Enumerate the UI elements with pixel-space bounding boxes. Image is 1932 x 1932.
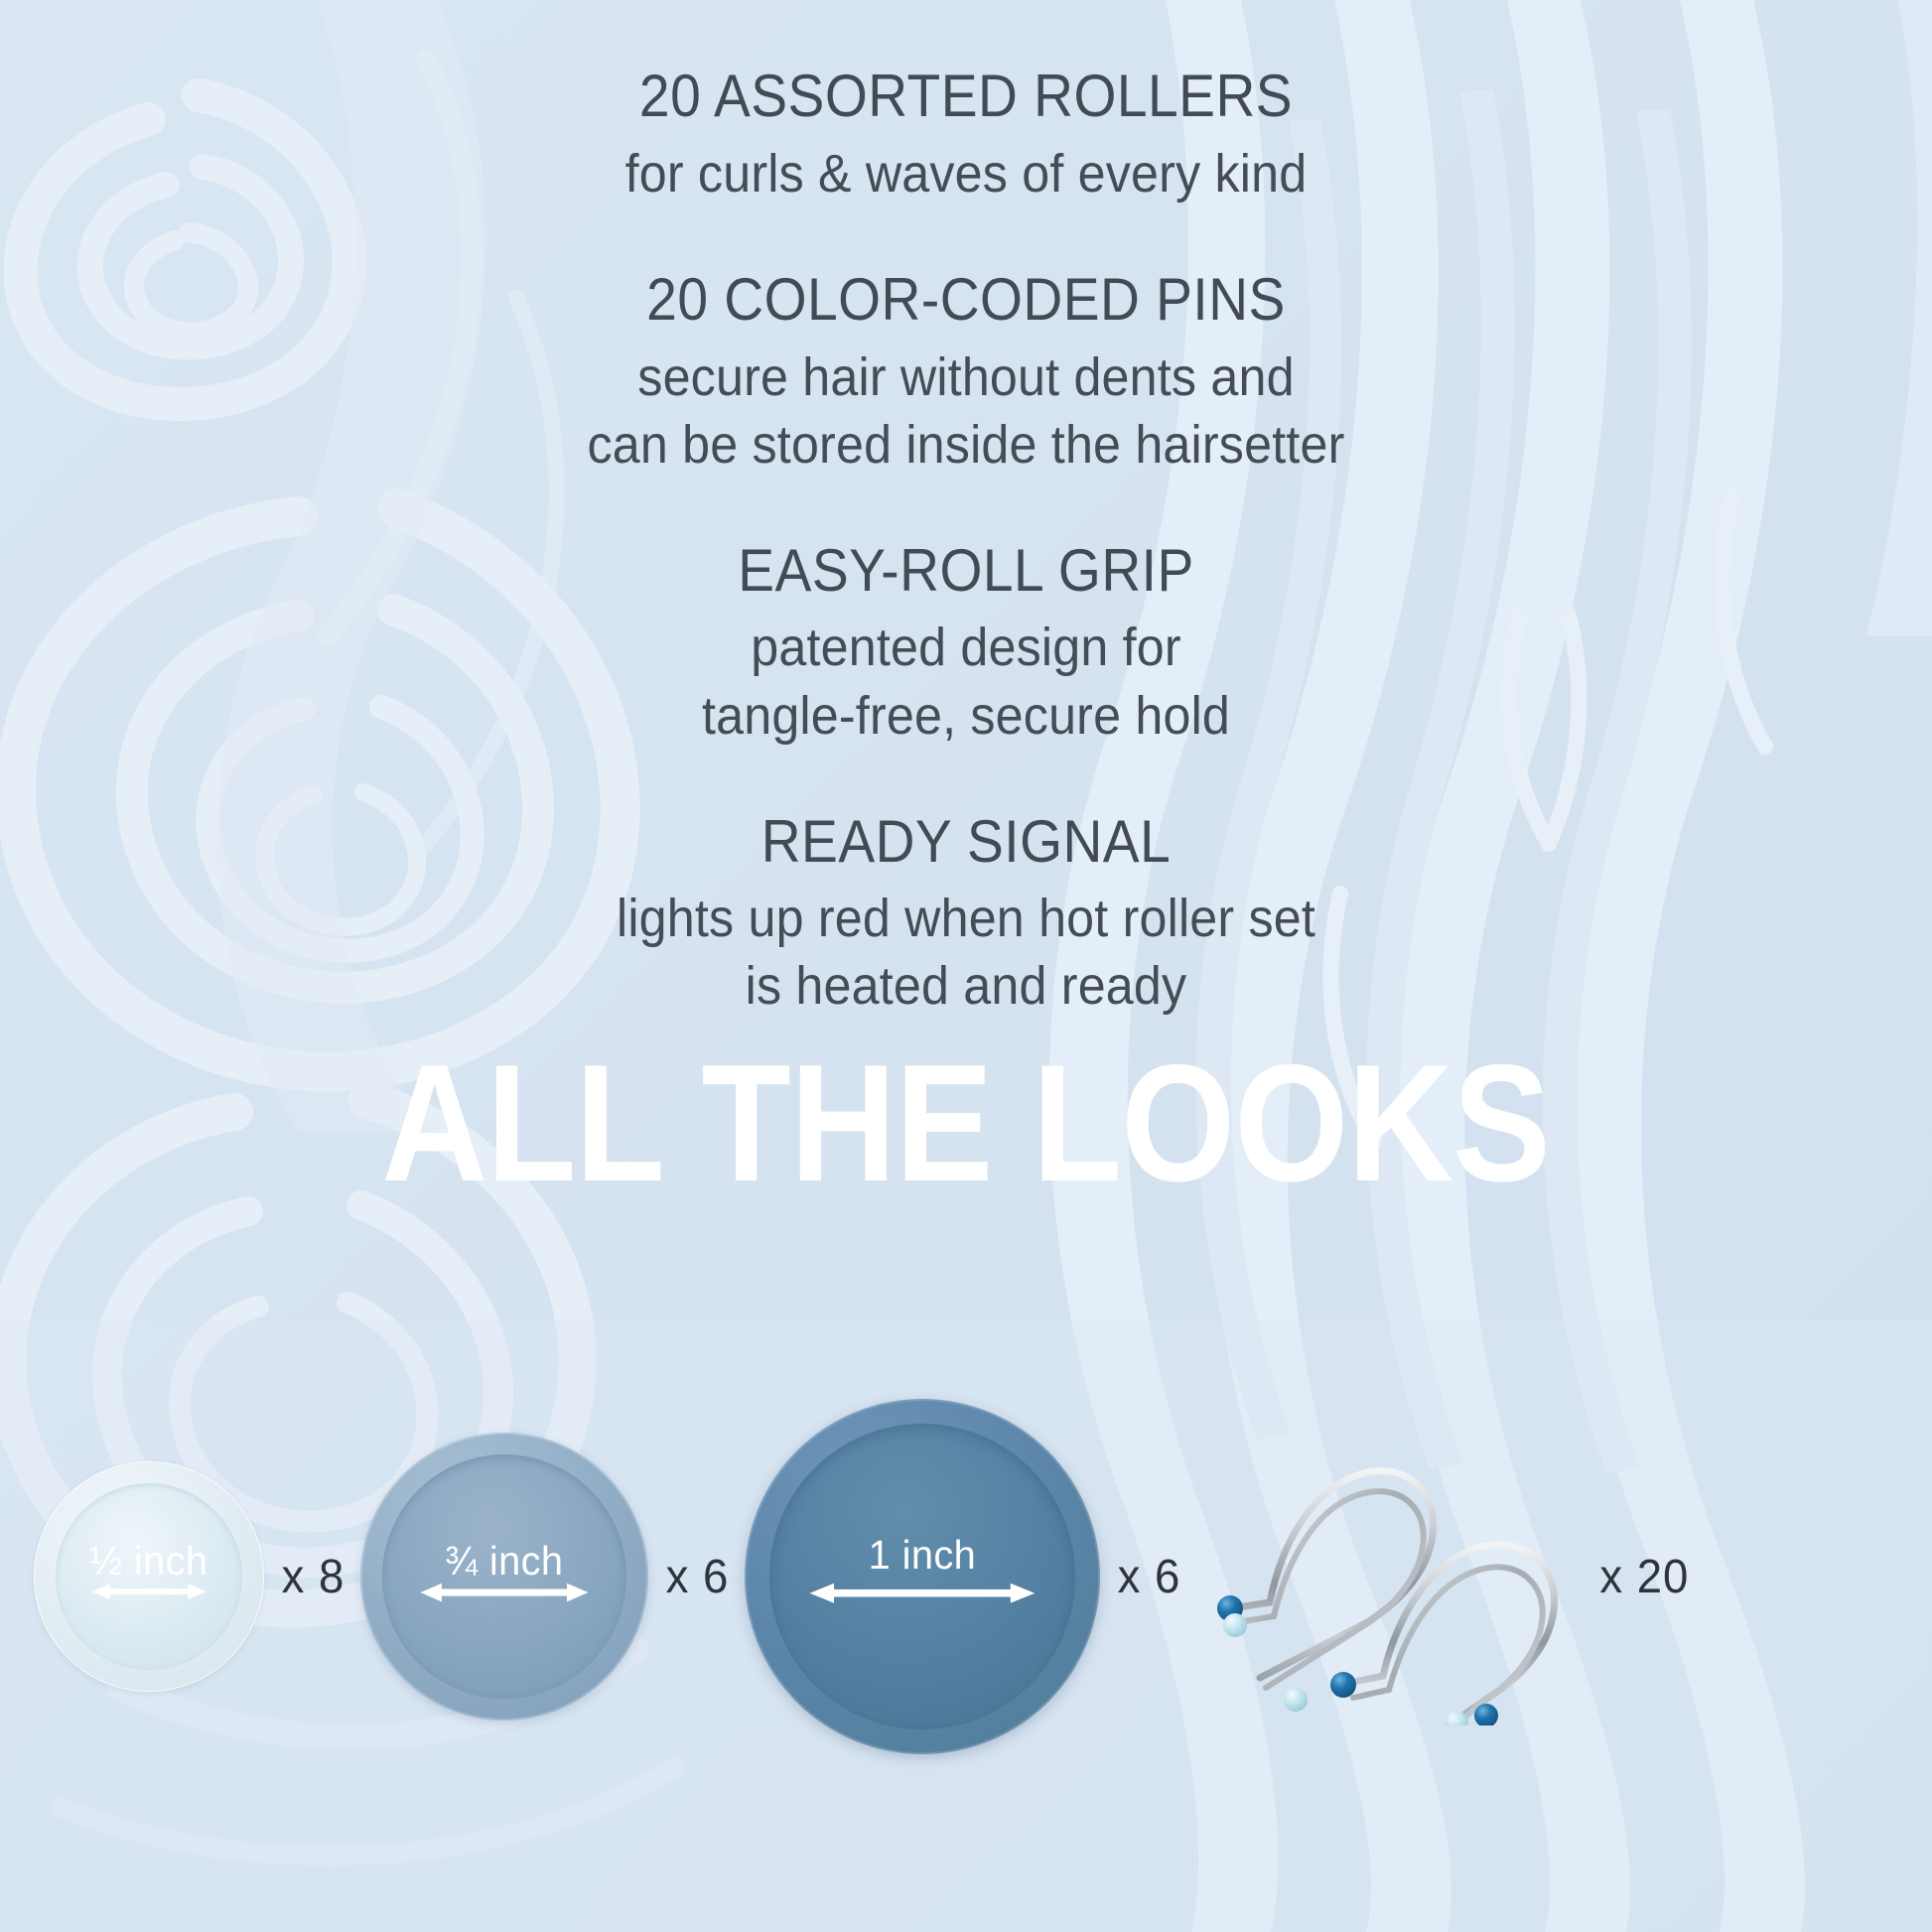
diameter-arrow-icon — [419, 1583, 590, 1610]
diameter-arrow-icon — [90, 1583, 207, 1610]
feature-description-line: lights up red when hot roller set — [68, 885, 1864, 952]
feature-title: 20 COLOR-CODED PINS — [77, 265, 1855, 336]
feature-list: 20 ASSORTED ROLLERS for curls & waves of… — [0, 0, 1932, 1020]
feature-title: 20 ASSORTED ROLLERS — [77, 62, 1855, 132]
diameter-arrow-icon — [808, 1583, 1036, 1610]
feature-description-line: is heated and ready — [68, 952, 1864, 1020]
feature-description-line: can be stored inside the hairsetter — [68, 411, 1864, 479]
feature-description-line: for curls & waves of every kind — [68, 140, 1864, 207]
feature-description: lights up red when hot roller set is hea… — [0, 885, 1932, 1020]
feature-description: secure hair without dents and can be sto… — [0, 344, 1932, 479]
feature-description: patented design for tangle-free, secure … — [0, 614, 1932, 749]
feature-description-line: tangle-free, secure hold — [68, 682, 1864, 750]
roller-size-label: 1 inch — [869, 1532, 976, 1579]
feature-description-line: secure hair without dents and — [68, 344, 1864, 411]
feature-description: for curls & waves of every kind — [0, 140, 1932, 207]
feature-color-coded-pins: 20 COLOR-CODED PINS secure hair without … — [0, 265, 1932, 479]
feature-easy-roll-grip: EASY-ROLL GRIP patented design for tangl… — [0, 536, 1932, 750]
feature-assorted-rollers: 20 ASSORTED ROLLERS for curls & waves of… — [0, 62, 1932, 207]
feature-description-line: patented design for — [68, 614, 1864, 681]
feature-ready-signal: READY SIGNAL lights up red when hot roll… — [0, 807, 1932, 1021]
roller-size-label: ¾ inch — [445, 1538, 564, 1585]
roller-size-label: ½ inch — [89, 1538, 208, 1585]
feature-title: READY SIGNAL — [77, 807, 1855, 878]
hero-headline: ALL THE LOOKS — [382, 1045, 1551, 1202]
feature-title: EASY-ROLL GRIP — [77, 536, 1855, 607]
